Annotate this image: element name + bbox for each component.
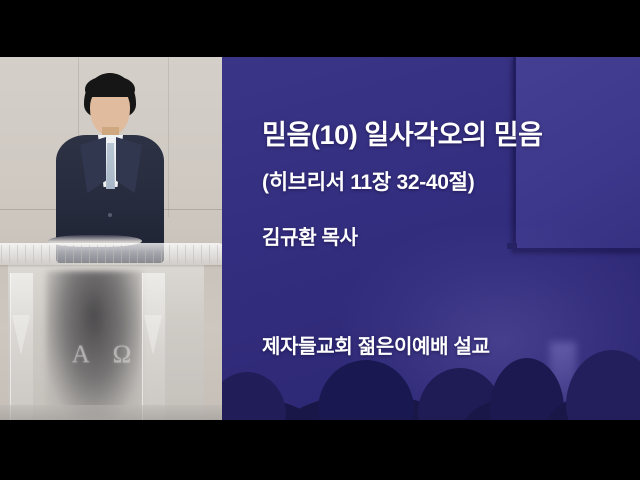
letterbox-bar-bottom bbox=[0, 420, 640, 480]
acrylic-pulpit: Α Ω bbox=[0, 243, 222, 420]
preacher-necktie bbox=[106, 143, 115, 189]
video-frame: Α Ω bbox=[0, 0, 640, 480]
sermon-title: 믿음(10) 일사각오의 믿음 bbox=[262, 113, 543, 152]
preacher-hair-fringe bbox=[85, 77, 135, 97]
suit-button bbox=[108, 213, 112, 217]
scripture-reference: (히브리서 11장 32-40절) bbox=[262, 166, 474, 196]
preacher-photo-pane: Α Ω bbox=[0, 57, 222, 420]
stage-floor bbox=[0, 405, 222, 420]
pulpit-ledge-ridges bbox=[0, 245, 222, 263]
service-label: 제자들교회 젊은이예배 설교 bbox=[262, 330, 490, 359]
title-card-pane: 믿음(10) 일사각오의 믿음 (히브리서 11장 32-40절) 김규환 목사… bbox=[222, 57, 640, 420]
speaker-name: 김규환 목사 bbox=[262, 221, 358, 250]
letterbox-bar-top bbox=[0, 0, 640, 57]
video-content-band: Α Ω bbox=[0, 57, 640, 420]
title-text-block: 믿음(10) 일사각오의 믿음 (히브리서 11장 32-40절) 김규환 목사… bbox=[262, 57, 640, 420]
alpha-omega-symbol: Α Ω bbox=[8, 341, 204, 369]
